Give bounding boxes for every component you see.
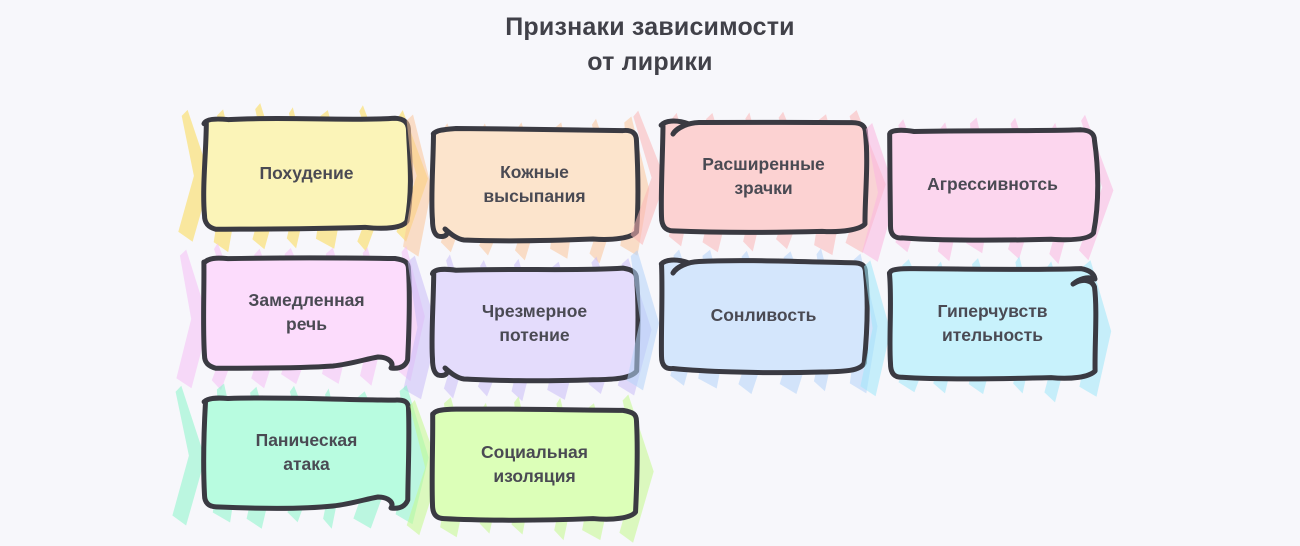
page-title: Признаки зависимости от лирики <box>0 10 1300 79</box>
card-label: Социальная изоляция <box>430 408 639 522</box>
card-label: Агрессивнотсь <box>888 128 1097 242</box>
card-panicheskaya-ataka[interactable]: Паническая атака <box>202 396 411 510</box>
card-label: Замедленная речь <box>202 256 411 370</box>
card-label: Чрезмерное потение <box>430 267 639 381</box>
card-label: Сонливость <box>659 259 868 373</box>
card-poxudenie[interactable]: Похудение <box>202 117 411 231</box>
card-label: Похудение <box>202 117 411 231</box>
card-label: Расширенные зрачки <box>659 120 868 234</box>
card-chrezmernoe-potenie[interactable]: Чрезмерное потение <box>430 267 639 381</box>
card-label: Гиперчувств ительность <box>888 267 1097 381</box>
card-giperchuvstvitelnost[interactable]: Гиперчувств ительность <box>888 267 1097 381</box>
card-socialnaya-izolyaciya[interactable]: Социальная изоляция <box>430 408 639 522</box>
sketch-board: Признаки зависимости от лирики Похудение… <box>0 0 1300 546</box>
card-label: Кожные высыпания <box>430 128 639 242</box>
card-zamedlennaya-rech[interactable]: Замедленная речь <box>202 256 411 370</box>
card-sonlivost[interactable]: Сонливость <box>659 259 868 373</box>
card-label: Паническая атака <box>202 396 411 510</box>
card-kozhnye-vysypaniya[interactable]: Кожные высыпания <box>430 128 639 242</box>
card-rasshirennye-zrachki[interactable]: Расширенные зрачки <box>659 120 868 234</box>
card-agressivnotsj[interactable]: Агрессивнотсь <box>888 128 1097 242</box>
